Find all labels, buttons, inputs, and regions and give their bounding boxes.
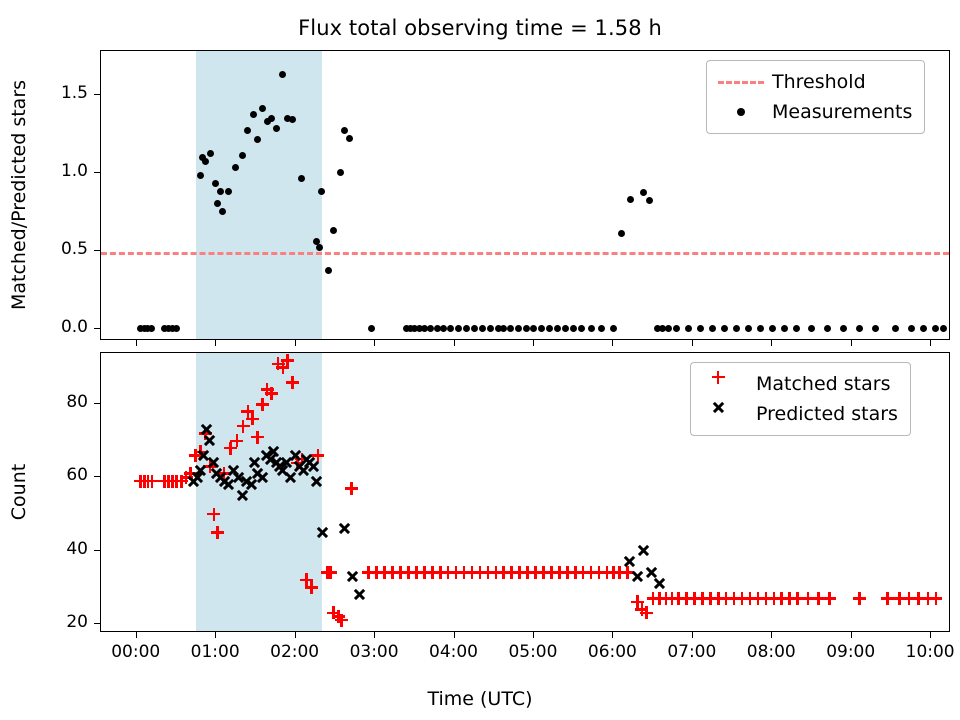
x-tick-label: 00:00 (111, 642, 160, 662)
dot-marker-icon (716, 102, 766, 122)
data-point-zero (148, 325, 155, 332)
data-point-zero (598, 325, 605, 332)
data-point-measurements (640, 189, 647, 196)
data-point-zero (872, 325, 879, 332)
data-point-zero (507, 325, 514, 332)
legend-item-measurements: Measurements (716, 97, 912, 127)
y-tick-label: 0.0 (22, 317, 88, 337)
data-point-matched-stars (335, 614, 348, 627)
data-point-zero (840, 325, 847, 332)
x-tick (692, 340, 693, 346)
x-tick (374, 632, 375, 638)
data-point-measurements (197, 172, 204, 179)
data-point-zero (515, 325, 522, 332)
data-point-predicted-stars (653, 577, 666, 590)
data-point-zero (530, 325, 537, 332)
x-tick (295, 632, 296, 638)
data-point-measurements (239, 152, 246, 159)
data-point-zero (920, 325, 927, 332)
data-point-matched-stars (640, 606, 653, 619)
data-point-zero (685, 325, 692, 332)
data-point-measurements (325, 267, 332, 274)
x-tick (215, 340, 216, 346)
bottom-panel-legend: Matched stars Predicted stars (690, 362, 911, 436)
x-tick (771, 340, 772, 346)
data-point-zero (808, 325, 815, 332)
data-point-zero (665, 325, 672, 332)
x-tick (851, 340, 852, 346)
data-point-predicted-stars (623, 555, 636, 568)
legend-item-predicted-stars: Predicted stars (700, 399, 898, 429)
data-point-zero (471, 325, 478, 332)
data-point-measurements (337, 169, 344, 176)
x-tick-label: 01:00 (191, 642, 240, 662)
x-tick (374, 340, 375, 346)
data-point-matched-stars (823, 592, 836, 605)
x-tick-label: 09:00 (826, 642, 875, 662)
data-point-zero (523, 325, 530, 332)
data-point-zero (733, 325, 740, 332)
data-point-matched-stars (246, 412, 259, 425)
data-point-predicted-stars (316, 526, 329, 539)
data-point-zero (769, 325, 776, 332)
data-point-zero (447, 325, 454, 332)
data-point-measurements (318, 188, 325, 195)
y-tick-label: 80 (22, 392, 88, 412)
data-point-zero (455, 325, 462, 332)
data-point-zero (538, 325, 545, 332)
data-point-predicted-stars (353, 588, 366, 601)
data-point-measurements (346, 135, 353, 142)
y-tick (94, 172, 100, 173)
data-point-measurements (646, 197, 653, 204)
data-point-matched-stars (207, 508, 220, 521)
x-tick (692, 632, 693, 638)
data-point-zero (570, 325, 577, 332)
data-point-zero (440, 325, 447, 332)
data-point-measurements (341, 127, 348, 134)
data-point-predicted-stars (307, 460, 320, 473)
data-point-predicted-stars (631, 570, 644, 583)
x-tick-label: 10:00 (906, 642, 955, 662)
data-point-zero (856, 325, 863, 332)
x-tick-label: 07:00 (667, 642, 716, 662)
data-point-measurements (298, 175, 305, 182)
data-point-zero (578, 325, 585, 332)
data-point-measurements (330, 227, 337, 234)
data-point-zero (173, 325, 180, 332)
data-point-measurements (627, 196, 634, 203)
data-point-matched-stars (145, 475, 158, 488)
x-axis-label: Time (UTC) (0, 688, 960, 710)
data-point-predicted-stars (256, 471, 269, 484)
x-tick (771, 632, 772, 638)
y-tick (94, 623, 100, 624)
x-tick (454, 340, 455, 346)
data-point-matched-stars (281, 354, 294, 367)
data-point-matched-stars (345, 482, 358, 495)
data-point-predicted-stars (203, 434, 216, 447)
y-tick-label: 1.5 (22, 83, 88, 103)
data-point-matched-stars (324, 566, 337, 579)
data-point-zero (745, 325, 752, 332)
y-tick-label: 40 (22, 539, 88, 559)
y-tick (94, 403, 100, 404)
x-tick-label: 04:00 (429, 642, 478, 662)
top-panel-legend: Threshold Measurements (706, 60, 925, 134)
data-point-matched-stars (265, 387, 278, 400)
shaded-observing-window (196, 353, 322, 631)
data-point-measurements (217, 188, 224, 195)
data-point-zero (588, 325, 595, 332)
cross-marker-icon (700, 404, 750, 424)
x-tick (136, 340, 137, 346)
data-point-matched-stars (251, 431, 264, 444)
figure: Flux total observing time = 1.58 h 0.00.… (0, 0, 960, 720)
data-point-zero (463, 325, 470, 332)
legend-label-measurements: Measurements (766, 101, 912, 123)
data-point-predicted-stars (338, 522, 351, 535)
data-point-zero (368, 325, 375, 332)
figure-title: Flux total observing time = 1.58 h (0, 16, 960, 40)
x-tick (215, 632, 216, 638)
data-point-zero (673, 325, 680, 332)
dashed-line-icon (716, 72, 766, 92)
x-tick (930, 632, 931, 638)
data-point-zero (697, 325, 704, 332)
x-tick-label: 06:00 (588, 642, 637, 662)
legend-item-matched-stars: Matched stars (700, 369, 898, 399)
data-point-matched-stars (929, 592, 942, 605)
data-point-measurements (268, 115, 275, 122)
data-point-measurements (212, 180, 219, 187)
data-point-zero (892, 325, 899, 332)
y-axis-label: Count (8, 464, 30, 520)
legend-item-threshold: Threshold (716, 67, 912, 97)
data-point-zero (824, 325, 831, 332)
data-point-zero (546, 325, 553, 332)
x-tick (612, 340, 613, 346)
data-point-zero (932, 325, 939, 332)
y-tick (94, 250, 100, 251)
data-point-matched-stars (853, 592, 866, 605)
data-point-measurements (259, 105, 266, 112)
y-axis-label: Matched/Predicted stars (8, 80, 30, 310)
legend-label-threshold: Threshold (766, 71, 866, 93)
data-point-zero (610, 325, 617, 332)
y-tick (94, 328, 100, 329)
data-point-zero (709, 325, 716, 332)
x-tick (454, 632, 455, 638)
x-tick (930, 340, 931, 346)
data-point-zero (721, 325, 728, 332)
y-tick (94, 476, 100, 477)
plus-marker-icon (700, 374, 750, 394)
data-point-zero (793, 325, 800, 332)
x-tick-label: 02:00 (270, 642, 319, 662)
y-tick-label: 1.0 (22, 161, 88, 181)
data-point-matched-stars (305, 581, 318, 594)
y-tick-label: 60 (22, 465, 88, 485)
data-point-matched-stars (286, 376, 299, 389)
data-point-zero (487, 325, 494, 332)
data-point-measurements (316, 244, 323, 251)
threshold-line (101, 252, 949, 255)
y-tick-label: 0.5 (22, 239, 88, 259)
x-tick (136, 632, 137, 638)
x-tick (295, 340, 296, 346)
x-tick (612, 632, 613, 638)
x-tick-label: 08:00 (747, 642, 796, 662)
y-tick (94, 94, 100, 95)
y-tick-label: 20 (22, 612, 88, 632)
data-point-zero (757, 325, 764, 332)
x-tick (533, 632, 534, 638)
x-tick-label: 03:00 (350, 642, 399, 662)
legend-label-predicted-stars: Predicted stars (750, 403, 898, 425)
data-point-predicted-stars (310, 475, 323, 488)
data-point-matched-stars (230, 434, 243, 447)
data-point-zero (479, 325, 486, 332)
data-point-zero (554, 325, 561, 332)
x-tick-label: 05:00 (508, 642, 557, 662)
data-point-predicted-stars (346, 570, 359, 583)
data-point-matched-stars (211, 526, 224, 539)
data-point-zero (940, 325, 947, 332)
data-point-zero (781, 325, 788, 332)
data-point-predicted-stars (637, 544, 650, 557)
data-point-zero (562, 325, 569, 332)
data-point-measurements (289, 116, 296, 123)
x-tick (533, 340, 534, 346)
data-point-zero (908, 325, 915, 332)
legend-label-matched-stars: Matched stars (750, 373, 890, 395)
data-point-predicted-stars (194, 464, 207, 477)
data-point-measurements (618, 230, 625, 237)
y-tick (94, 550, 100, 551)
shaded-observing-window (196, 51, 322, 339)
x-tick (851, 632, 852, 638)
data-point-measurements (279, 71, 286, 78)
